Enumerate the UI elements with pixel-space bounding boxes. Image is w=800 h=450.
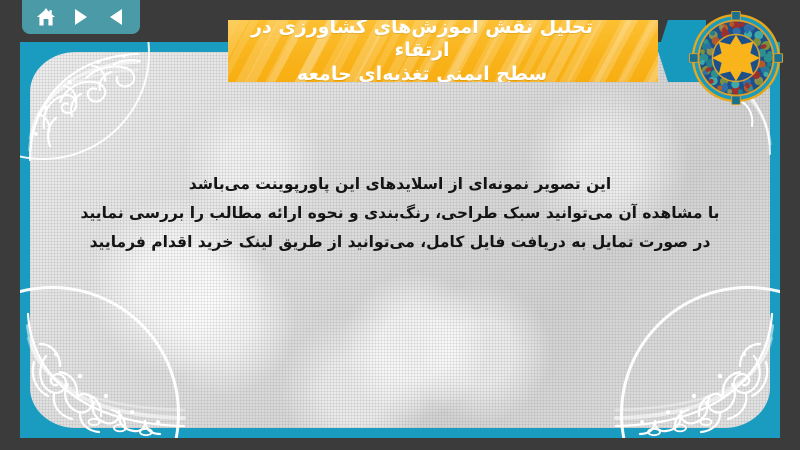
previous-slide-button[interactable]: [102, 4, 130, 30]
next-slide-button[interactable]: [67, 4, 95, 30]
body-line-2: با مشاهده آن می‌توانید سبک طراحی، رنگ‌بن…: [76, 199, 724, 228]
triangle-left-icon: [108, 8, 124, 26]
slide-body-text: این تصویر نمونه‌ای از اسلایدهای این پاور…: [20, 170, 780, 257]
home-button[interactable]: [32, 4, 60, 30]
body-line-3: در صورت تمایل به دریافت فایل کامل، می‌تو…: [76, 228, 724, 257]
slide-title-banner: تحلیل نقش آموزش‌های کشاورزی در ارتقاء سط…: [228, 20, 706, 82]
slide-viewer-stage: این تصویر نمونه‌ای از اسلایدهای این پاور…: [0, 0, 800, 450]
triangle-right-icon: [73, 8, 89, 26]
body-line-1: این تصویر نمونه‌ای از اسلایدهای این پاور…: [76, 170, 724, 199]
home-icon: [36, 8, 56, 27]
slide-canvas: این تصویر نمونه‌ای از اسلایدهای این پاور…: [20, 42, 780, 438]
slide-navigation-bar: [22, 0, 140, 34]
slide-title: تحلیل نقش آموزش‌های کشاورزی در ارتقاء سط…: [228, 20, 658, 82]
banner-body: تحلیل نقش آموزش‌های کشاورزی در ارتقاء سط…: [228, 20, 658, 82]
persian-mandala-medallion: [688, 10, 784, 106]
